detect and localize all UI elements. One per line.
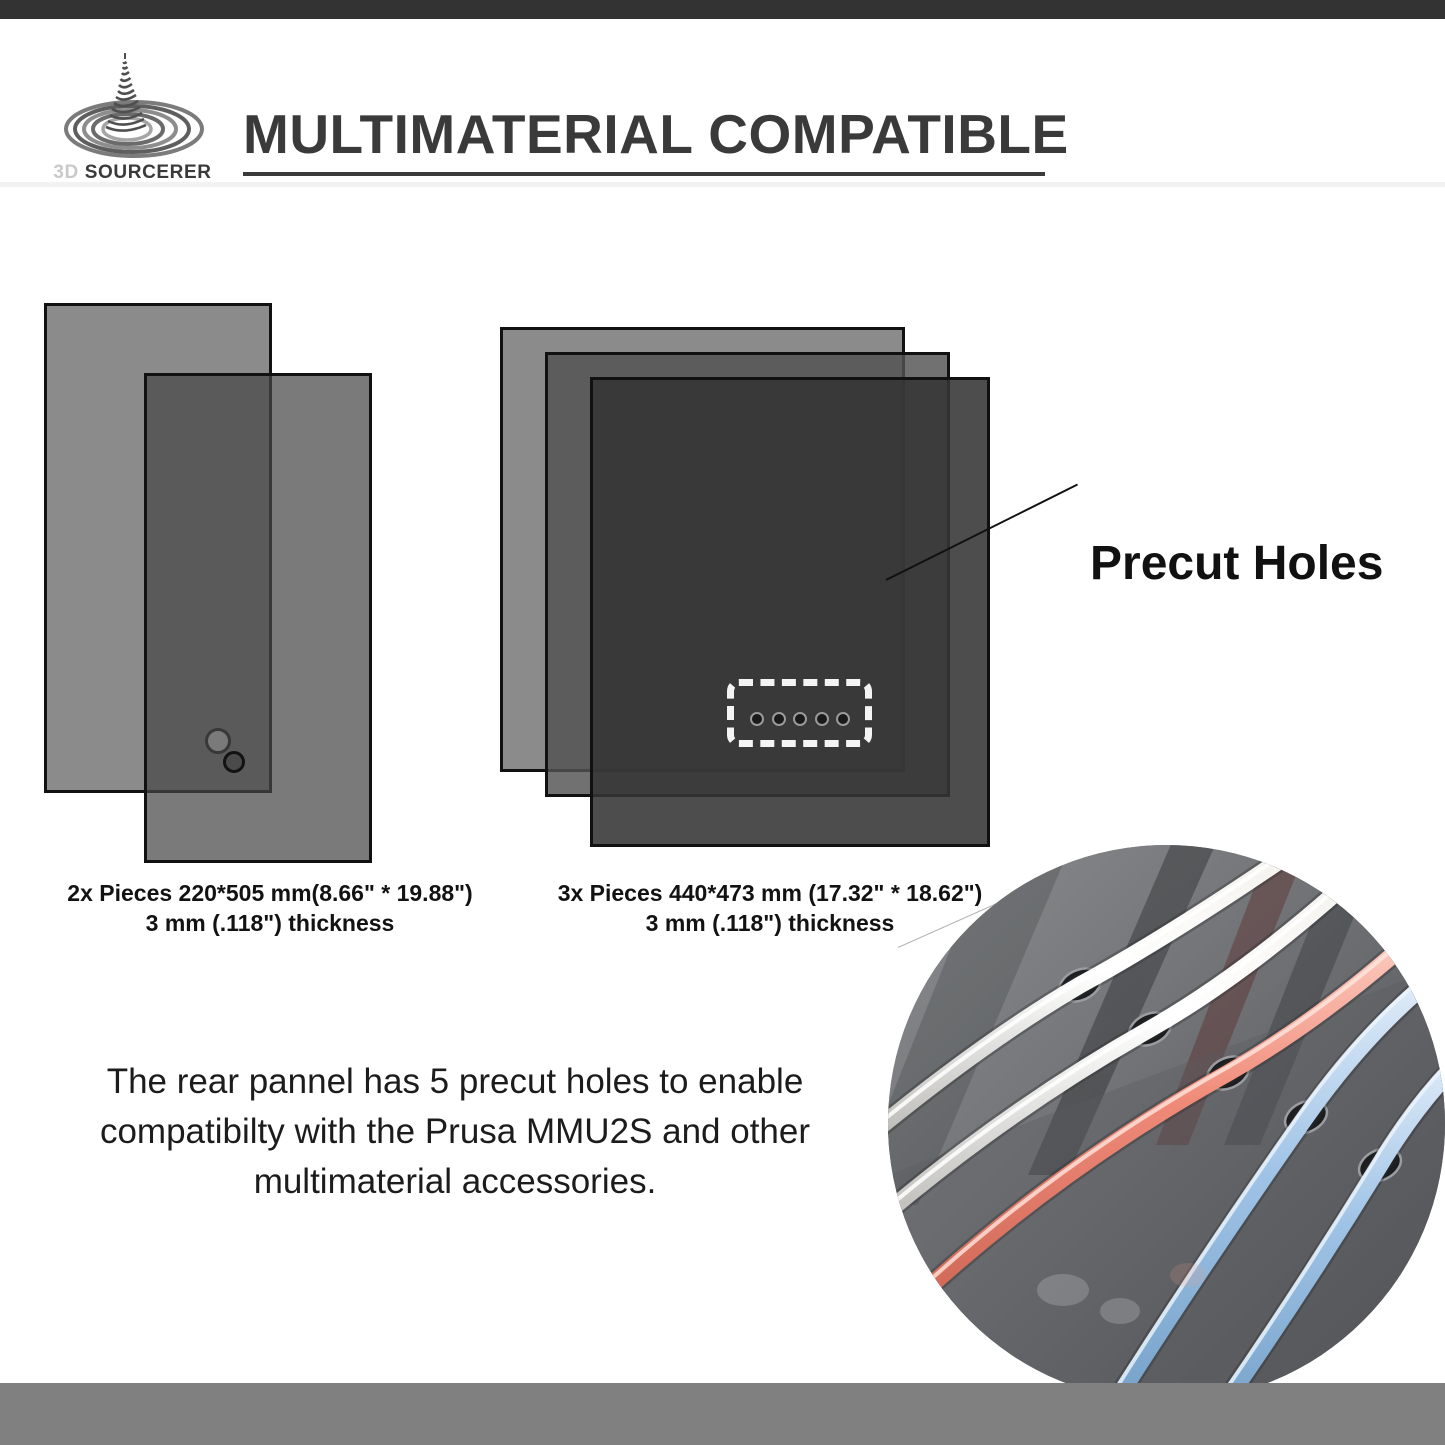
left-group-caption: 2x Pieces 220*505 mm(8.66" * 19.88") 3 m… xyxy=(20,878,520,939)
precut-hole-icon xyxy=(772,712,786,726)
precut-hole-icon xyxy=(793,712,807,726)
brand-logo: 3D SOURCERER xyxy=(40,49,225,199)
panel-diagram: Precut Holes xyxy=(0,187,1445,967)
left-caption-line-2: 3 mm (.118") thickness xyxy=(20,908,520,938)
footer-bar xyxy=(0,1383,1445,1445)
right-caption-line-1: 3x Pieces 440*473 mm (17.32" * 18.62") xyxy=(520,878,1020,908)
precut-holes-row xyxy=(750,711,850,727)
description-text: The rear pannel has 5 precut holes to en… xyxy=(55,1057,855,1207)
left-sheet-front xyxy=(144,373,372,863)
brand-name-main: SOURCERER xyxy=(85,162,212,183)
header: 3D SOURCERER MULTIMATERIAL COMPATIBLE xyxy=(0,19,1445,182)
precut-hole-icon xyxy=(750,712,764,726)
brand-name-prefix: 3D xyxy=(53,162,79,183)
page-title: MULTIMATERIAL COMPATIBLE xyxy=(243,102,1069,166)
title-underline xyxy=(243,172,1045,176)
precut-holes-callout-label: Precut Holes xyxy=(1090,536,1383,591)
precut-hole-icon xyxy=(815,712,829,726)
left-front-sheet-hole xyxy=(223,751,245,773)
ptfe-filament-tubes-through-precut-holes-photo xyxy=(888,845,1445,1402)
right-sheet-3 xyxy=(590,377,990,847)
top-dark-bar xyxy=(0,0,1445,19)
brand-wordmark: 3D SOURCERER xyxy=(40,162,225,184)
right-group-caption: 3x Pieces 440*473 mm (17.32" * 18.62") 3… xyxy=(520,878,1020,939)
wizard-hat-spiral-logo-icon xyxy=(62,49,207,161)
left-caption-line-1: 2x Pieces 220*505 mm(8.66" * 19.88") xyxy=(20,878,520,908)
precut-hole-icon xyxy=(836,712,850,726)
infographic-page: 3D SOURCERER MULTIMATERIAL COMPATIBLE xyxy=(0,0,1445,1445)
right-caption-line-2: 3 mm (.118") thickness xyxy=(520,908,1020,938)
